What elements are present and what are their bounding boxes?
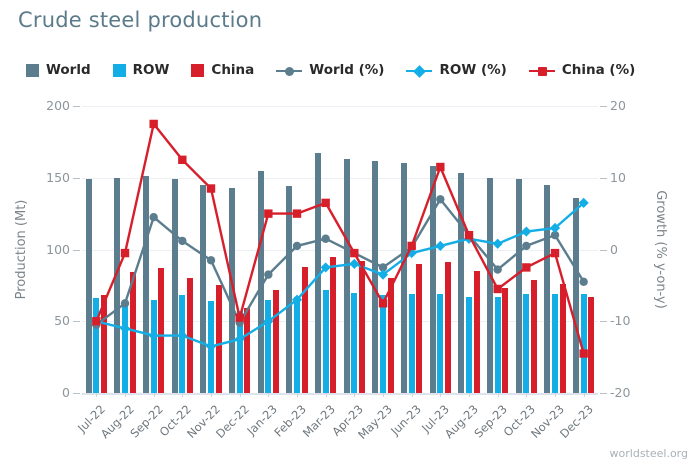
marker-circle-nov-22	[207, 256, 215, 264]
marker-square-jun-23	[407, 242, 415, 250]
legend-label: ROW	[133, 62, 170, 78]
chart-plot-area: 2002015010100050-100-20Jul-22Aug-22Sep-2…	[82, 106, 598, 393]
chart-legend: WorldROWChinaWorld (%)ROW (%)China (%)	[26, 62, 635, 78]
x-axis-tickmark	[412, 393, 413, 397]
legend-item-row[interactable]: ROW (%)	[406, 62, 506, 78]
marker-diamond-aug-22	[120, 323, 130, 333]
axis-tickmark	[73, 106, 80, 107]
axis-tickmark	[600, 393, 607, 394]
axis-tickmark	[600, 178, 607, 179]
marker-circle-jul-23	[436, 195, 444, 203]
y-axis-right-label: Growth (% y-on-y)	[652, 106, 668, 393]
source-attribution: worldsteel.org	[610, 447, 688, 460]
marker-diamond-nov-22	[206, 341, 216, 351]
y-axis-left-label: Production (Mt)	[14, 106, 30, 393]
y-axis-right-tick: 0	[610, 242, 618, 257]
legend-item-china[interactable]: China	[191, 62, 254, 78]
x-axis-tickmark	[526, 393, 527, 397]
marker-square-jan-23	[264, 209, 272, 217]
y-axis-left-tick: 100	[46, 242, 70, 257]
marker-square-oct-22	[178, 156, 186, 164]
marker-square-apr-23	[350, 249, 358, 257]
marker-diamond-oct-23	[521, 226, 531, 236]
y-axis-right-tick: -10	[610, 313, 630, 328]
marker-circle-mar-23	[321, 235, 329, 243]
marker-square-aug-23	[465, 231, 473, 239]
legend-label: World	[46, 62, 91, 78]
marker-square-oct-23	[522, 263, 530, 271]
marker-square-may-23	[379, 299, 387, 307]
x-axis-tickmark	[182, 393, 183, 397]
marker-circle-feb-23	[293, 242, 301, 250]
marker-circle-oct-22	[178, 237, 186, 245]
y-axis-left-tick: 50	[54, 313, 70, 328]
line-series-overlay	[82, 106, 598, 393]
x-axis-tickmark	[297, 393, 298, 397]
marker-square-jul-23	[436, 163, 444, 171]
marker-square-mar-23	[321, 199, 329, 207]
legend-item-china[interactable]: China (%)	[529, 62, 635, 78]
x-axis-tickmark	[326, 393, 327, 397]
marker-square-feb-23	[293, 209, 301, 217]
legend-label: China (%)	[562, 62, 635, 78]
y-axis-right-tick: 10	[610, 170, 626, 185]
marker-diamond-sep-22	[149, 331, 159, 341]
legend-item-world[interactable]: World	[26, 62, 91, 78]
y-axis-left-tick: 200	[46, 98, 70, 113]
axis-tickmark	[73, 250, 80, 251]
marker-square-aug-22	[121, 249, 129, 257]
x-axis-tickmark	[240, 393, 241, 397]
marker-circle-sep-22	[149, 213, 157, 221]
marker-square-dec-23	[579, 349, 587, 357]
marker-square-sep-23	[493, 285, 501, 293]
x-axis-tickmark	[96, 393, 97, 397]
x-axis-tickmark	[469, 393, 470, 397]
axis-tickmark	[73, 178, 80, 179]
line-row	[96, 203, 583, 347]
page-title: Crude steel production	[18, 8, 262, 32]
legend-swatch-icon	[191, 64, 204, 77]
y-axis-left-tick: 150	[46, 170, 70, 185]
legend-swatch-icon	[113, 64, 126, 77]
marker-circle-dec-23	[579, 278, 587, 286]
y-axis-right-tick: 20	[610, 98, 626, 113]
legend-line-circle-icon	[276, 64, 302, 77]
legend-line-square-icon	[529, 64, 555, 77]
legend-label: World (%)	[309, 62, 384, 78]
marker-square-nov-22	[207, 184, 215, 192]
marker-circle-sep-23	[493, 265, 501, 273]
marker-circle-aug-22	[121, 299, 129, 307]
marker-square-jul-22	[92, 317, 100, 325]
legend-item-row[interactable]: ROW	[113, 62, 170, 78]
legend-item-world[interactable]: World (%)	[276, 62, 384, 78]
x-axis-tickmark	[555, 393, 556, 397]
marker-diamond-jul-23	[435, 241, 445, 251]
x-axis-tickmark	[154, 393, 155, 397]
axis-tickmark	[600, 250, 607, 251]
legend-swatch-icon	[26, 64, 39, 77]
marker-square-nov-23	[551, 249, 559, 257]
marker-circle-oct-23	[522, 242, 530, 250]
marker-diamond-sep-23	[493, 239, 503, 249]
y-axis-right-tick: -20	[610, 385, 630, 400]
legend-line-diamond-icon	[406, 64, 432, 77]
line-world	[96, 199, 583, 324]
x-axis-tickmark	[211, 393, 212, 397]
x-axis-tickmark	[383, 393, 384, 397]
legend-label: China	[211, 62, 254, 78]
axis-tickmark	[600, 106, 607, 107]
x-axis-tickmark	[125, 393, 126, 397]
x-axis-tickmark	[584, 393, 585, 397]
marker-square-sep-22	[149, 120, 157, 128]
x-axis-tickmark	[440, 393, 441, 397]
axis-tickmark	[600, 321, 607, 322]
marker-circle-jan-23	[264, 270, 272, 278]
x-axis-tickmark	[498, 393, 499, 397]
axis-tickmark	[73, 321, 80, 322]
x-axis-tickmark	[354, 393, 355, 397]
gridline	[82, 393, 598, 395]
marker-square-dec-22	[235, 313, 243, 321]
y-axis-left-tick: 0	[62, 385, 70, 400]
axis-tickmark	[73, 393, 80, 394]
marker-diamond-oct-22	[177, 331, 187, 341]
legend-label: ROW (%)	[439, 62, 506, 78]
x-axis-tickmark	[268, 393, 269, 397]
